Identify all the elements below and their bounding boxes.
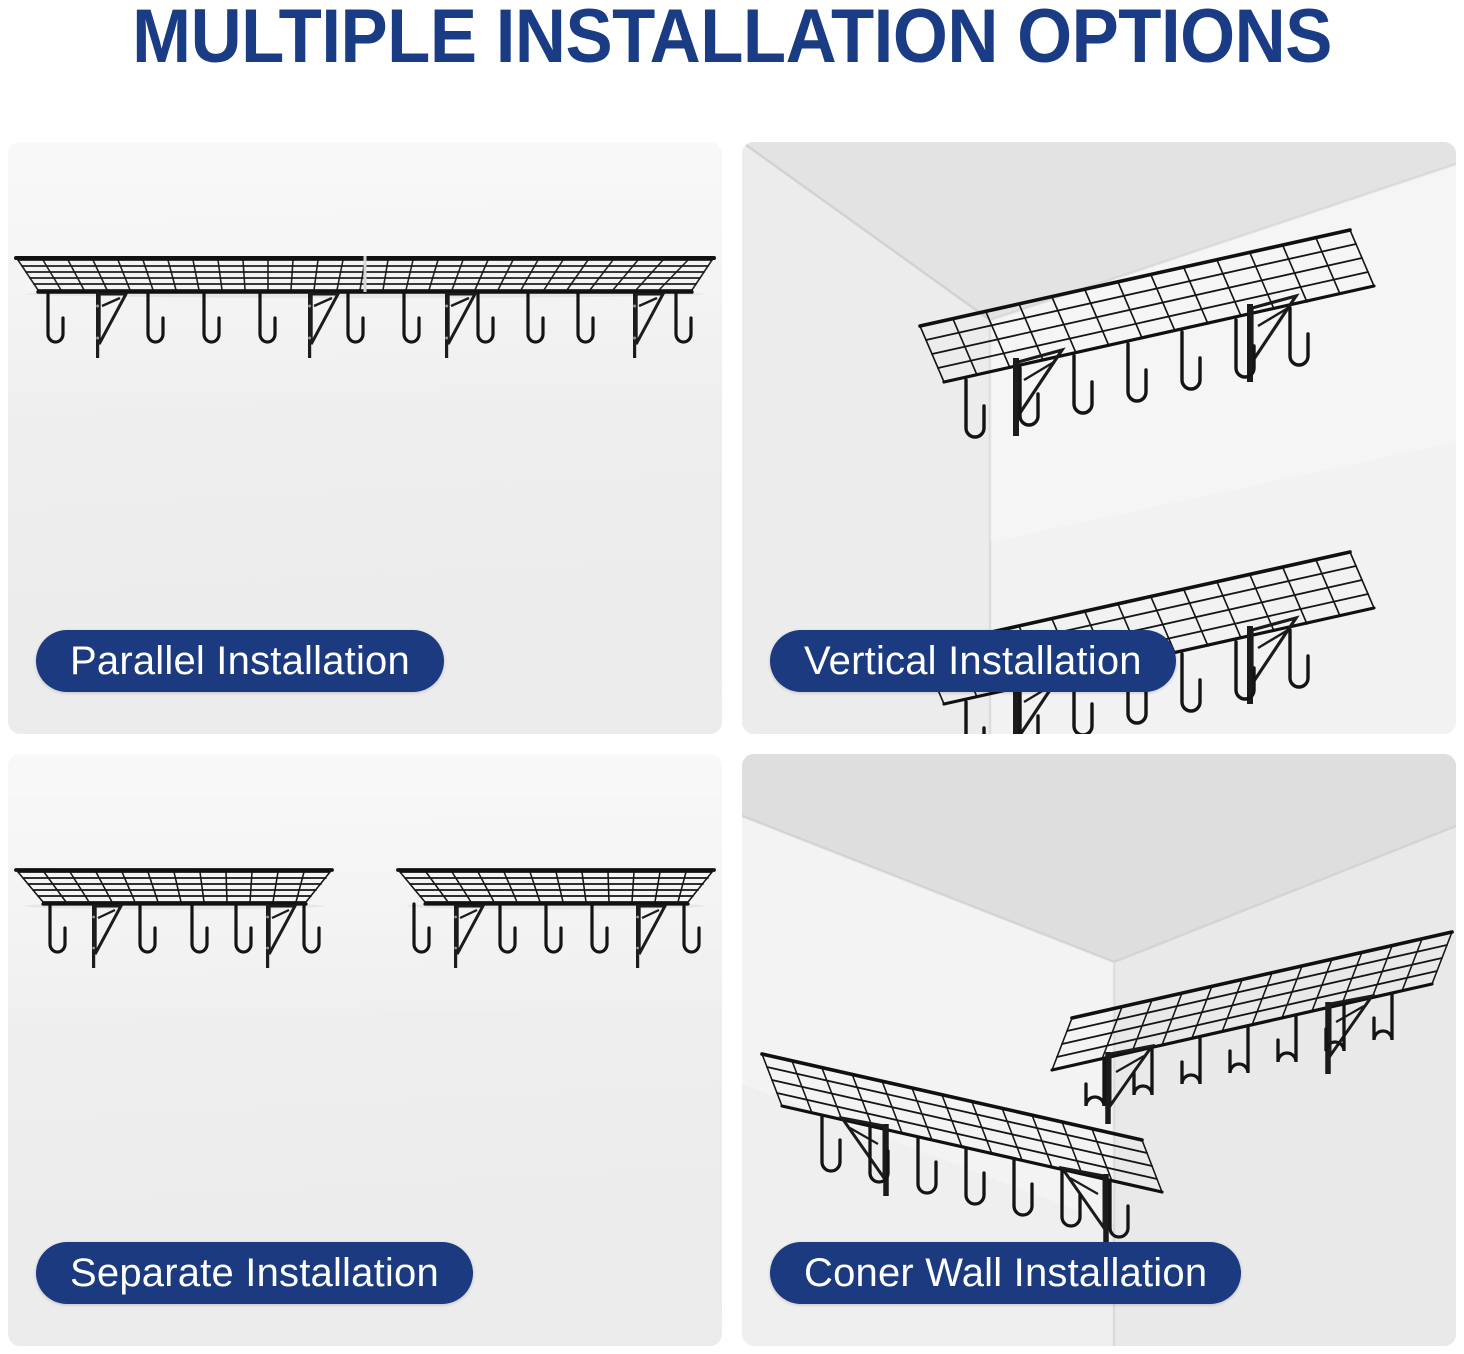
caption-corner-wall-installation: Coner Wall Installation bbox=[770, 1242, 1241, 1304]
panel-parallel-installation: Parallel Installation bbox=[8, 142, 722, 734]
panel-corner-wall-installation: Coner Wall Installation bbox=[742, 754, 1456, 1346]
caption-vertical-installation: Vertical Installation bbox=[770, 630, 1176, 692]
caption-separate-installation: Separate Installation bbox=[36, 1242, 473, 1304]
caption-parallel-installation: Parallel Installation bbox=[36, 630, 444, 692]
panel-vertical-installation: Vertical Installation bbox=[742, 142, 1456, 734]
title-bar: MULTIPLE INSTALLATION OPTIONS bbox=[0, 0, 1464, 130]
page-title: MULTIPLE INSTALLATION OPTIONS bbox=[132, 0, 1332, 74]
panel-grid: Parallel Installation bbox=[8, 142, 1456, 1346]
panel-separate-installation: Separate Installation bbox=[8, 754, 722, 1346]
infographic-page: MULTIPLE INSTALLATION OPTIONS bbox=[0, 0, 1464, 1354]
